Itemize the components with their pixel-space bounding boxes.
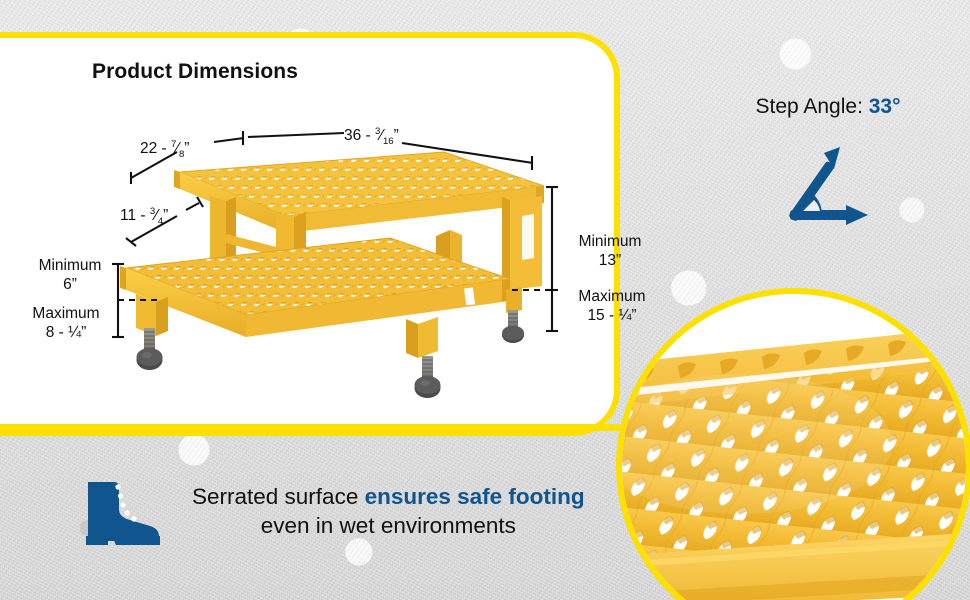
dimension-label-width: 36 - 3⁄16” xyxy=(344,127,399,146)
page-title: Product Dimensions xyxy=(92,60,298,84)
footing-caption-text: Serrated surface ensures safe footing ev… xyxy=(192,482,585,541)
infographic-stage: Product Dimensions xyxy=(0,0,970,600)
step-angle-value: 33° xyxy=(869,95,901,118)
dimension-label-upper-maximum: Maximum 15 - ¼” xyxy=(560,288,664,326)
step-angle-label: Step Angle: xyxy=(755,95,868,118)
work-boot-icon xyxy=(78,470,170,552)
dimension-label-lower-minimum: Minimum 6” xyxy=(18,257,122,295)
dimension-label-lower-maximum: Maximum 8 - ¼” xyxy=(10,305,122,343)
upper-max-value: 15 - ¼” xyxy=(587,307,636,324)
dimension-label-depth: 22 - 7⁄8” xyxy=(140,140,189,159)
leveling-foot-rear-right xyxy=(502,310,524,343)
lower-max-word: Maximum xyxy=(32,305,99,322)
caption-line2: even in wet environments xyxy=(261,513,516,538)
lower-min-value: 6” xyxy=(63,276,77,293)
leveling-foot-front-right xyxy=(415,356,441,398)
caption-line1-plain: Serrated surface xyxy=(192,484,365,509)
dimension-label-step-depth: 11 - 3⁄4” xyxy=(120,207,168,226)
upper-min-word: Minimum xyxy=(579,233,642,250)
right-side-frame xyxy=(502,196,542,290)
angle-arrows-icon xyxy=(782,139,874,231)
lower-max-value: 8 - ¼” xyxy=(46,324,86,341)
lower-min-word: Minimum xyxy=(39,257,102,274)
two-step-work-platform-illustration xyxy=(118,138,548,428)
upper-max-word: Maximum xyxy=(578,288,645,305)
step-angle-block: Step Angle: 33° xyxy=(700,95,956,236)
footing-caption-block: Serrated surface ensures safe footing ev… xyxy=(78,470,618,552)
upper-min-value: 13” xyxy=(599,252,621,269)
step-angle-title: Step Angle: 33° xyxy=(700,95,956,119)
dimension-label-upper-minimum: Minimum 13” xyxy=(562,233,658,271)
caption-line1-bold: ensures safe footing xyxy=(365,484,585,509)
